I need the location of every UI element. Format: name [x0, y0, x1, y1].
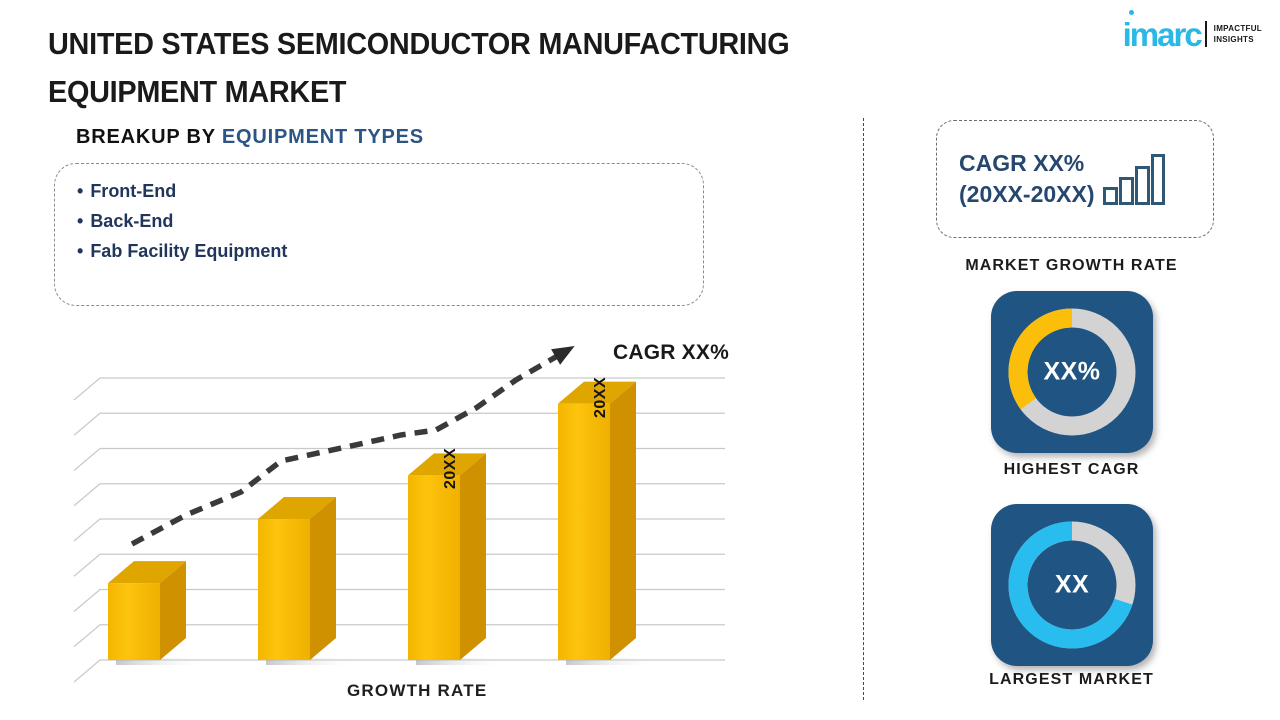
list-item-label: Front-End — [90, 181, 176, 201]
highest-cagr-caption: HIGHEST CAGR — [863, 461, 1280, 479]
bar-label-3: 20XX — [442, 448, 460, 489]
chart-x-axis-label: GROWTH RATE — [347, 681, 487, 701]
highest-cagr-value: XX% — [991, 358, 1153, 387]
ascending-bars-icon — [1103, 153, 1165, 205]
list-item: •Fab Facility Equipment — [77, 236, 703, 266]
highest-cagr-card: XX% — [991, 291, 1153, 453]
logo-wordmark: imarc — [1123, 18, 1201, 51]
logo-tagline: IMPACTFUL INSIGHTS — [1214, 23, 1262, 45]
list-item-label: Fab Facility Equipment — [90, 241, 287, 261]
list-item: •Back-End — [77, 206, 703, 236]
breakup-list-box: •Front-End •Back-End •Fab Facility Equip… — [54, 163, 704, 306]
bullet-icon: • — [77, 206, 83, 236]
chart-bars — [108, 382, 660, 665]
market-growth-rate-caption: MARKET GROWTH RATE — [863, 257, 1280, 275]
cagr-value: CAGR XX% — [959, 148, 1095, 179]
list-item-label: Back-End — [90, 211, 173, 231]
logo-tagline-line2: INSIGHTS — [1214, 34, 1262, 45]
list-item: •Front-End — [77, 176, 703, 206]
bullet-icon: • — [77, 176, 83, 206]
infographic-canvas: UNITED STATES SEMICONDUCTOR MANUFACTURIN… — [0, 0, 1280, 720]
breakup-heading: BREAKUP BY EQUIPMENT TYPES — [76, 126, 424, 149]
chart-svg — [46, 330, 766, 710]
page-title: UNITED STATES SEMICONDUCTOR MANUFACTURIN… — [48, 20, 885, 116]
imarc-logo: imarc IMPACTFUL INSIGHTS — [1123, 14, 1262, 54]
cagr-period: (20XX-20XX) — [959, 179, 1095, 210]
breakup-heading-highlight: EQUIPMENT TYPES — [222, 126, 424, 148]
vertical-divider — [863, 118, 864, 700]
logo-divider — [1205, 21, 1207, 47]
largest-market-card: XX — [991, 504, 1153, 666]
bullet-icon: • — [77, 236, 83, 266]
breakup-heading-prefix: BREAKUP BY — [76, 126, 222, 148]
market-growth-rate-box: CAGR XX% (20XX-20XX) — [936, 120, 1214, 238]
chart-cagr-annotation: CAGR XX% — [613, 341, 729, 365]
logo-dot-icon — [1129, 10, 1134, 15]
trend-arrow — [132, 346, 575, 544]
logo-tagline-line1: IMPACTFUL — [1214, 23, 1262, 34]
largest-market-caption: LARGEST MARKET — [863, 671, 1280, 689]
largest-market-value: XX — [991, 571, 1153, 600]
bar-label-4: 20XX — [592, 376, 610, 417]
cagr-text: CAGR XX% (20XX-20XX) — [959, 148, 1095, 210]
growth-bar-chart: 20XX 20XX — [46, 330, 766, 710]
